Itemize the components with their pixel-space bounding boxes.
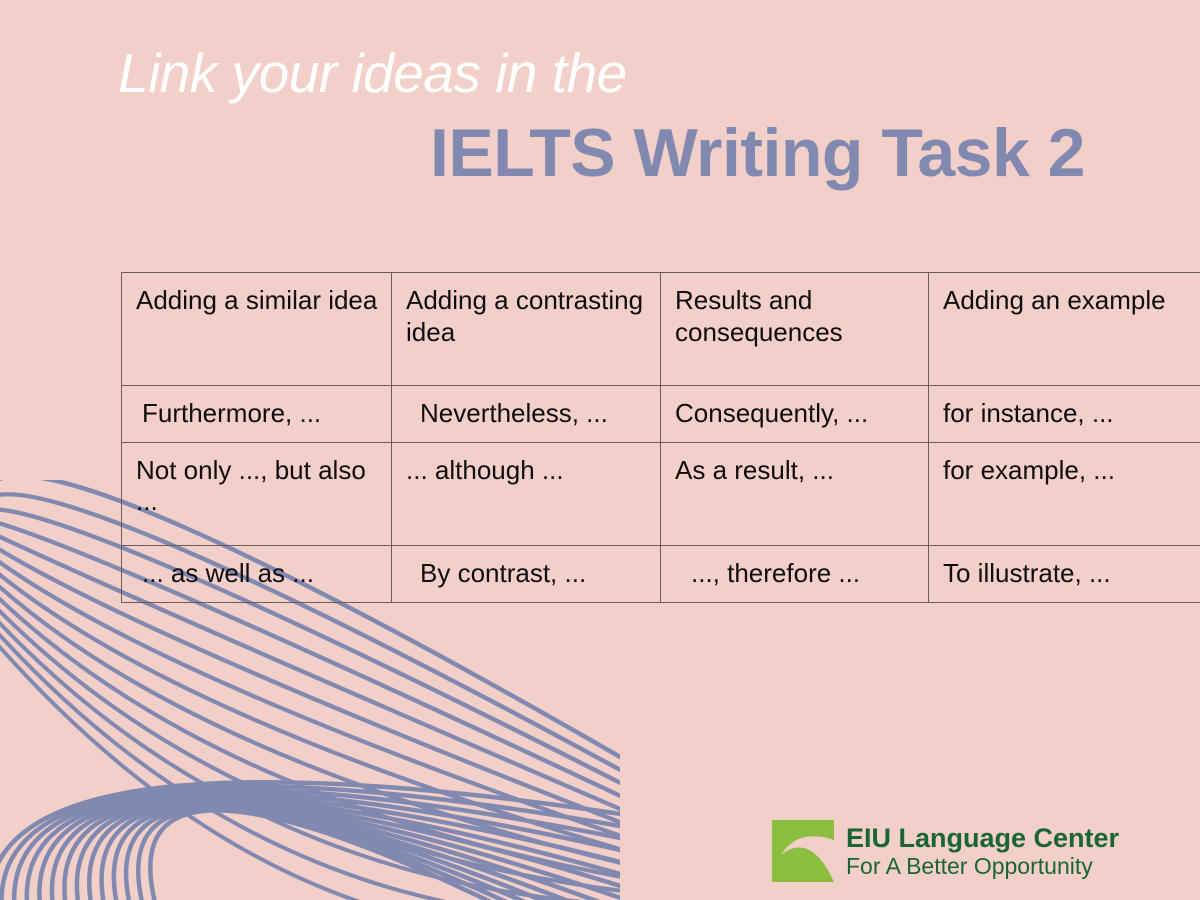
table-row: Furthermore, ... Nevertheless, ... Conse… [122,386,1200,443]
decorative-arc [14,790,620,900]
table-cell: To illustrate, ... [929,545,1200,602]
table-body: Adding a similar idea Adding a contrasti… [122,273,1200,603]
table-cell: for instance, ... [929,386,1200,443]
table-header-cell-adding-a-similar-idea: Adding a similar idea [122,273,392,386]
decorative-arc [52,798,620,900]
table-cell: Nevertheless, ... [392,386,661,443]
decorative-arc [0,601,620,895]
table-row: ... as well as ... By contrast, ... ...,… [122,545,1200,602]
decorative-arc [89,804,620,900]
table-cell: ... although ... [392,442,661,545]
table-cell: ... as well as ... [122,545,392,602]
page-title-line-2: IELTS Writing Task 2 [430,119,1085,187]
decorative-arc [0,782,620,900]
decorative-arc [1,786,620,900]
table-header-row: Adding a similar idea Adding a contrasti… [122,273,1200,386]
decorative-arc [0,567,620,861]
decorative-arc [102,805,620,900]
table-cell: Consequently, ... [661,386,929,443]
table-header-cell-adding-a-contrasting-idea: Adding a contrasting idea [392,273,661,386]
linking-words-table: Adding a similar idea Adding a contrasti… [121,272,1200,603]
table-row: Not only ..., but also ... ... although … [122,442,1200,545]
decorative-arc [0,624,620,900]
table-header-cell-results-and-consequences: Results and consequences [661,273,929,386]
table-cell: Not only ..., but also ... [122,442,392,545]
decorative-arc [39,795,620,900]
table-cell: ..., therefore ... [661,545,929,602]
decorative-arc [0,613,620,900]
decorative-arc [0,590,620,884]
decorative-arc [150,810,620,900]
table-cell: By contrast, ... [392,545,661,602]
logo-text-block: EIU Language Center For A Better Opportu… [846,823,1119,880]
decorative-arc [126,808,620,900]
decorative-arc [138,809,620,900]
logo-tagline: For A Better Opportunity [846,853,1119,879]
decorative-arc [0,578,620,872]
table-header-cell-adding-an-example: Adding an example [929,273,1200,386]
logo-name: EIU Language Center [846,823,1119,853]
eiu-language-center-logo: EIU Language Center For A Better Opportu… [772,820,1119,882]
table-cell: Furthermore, ... [122,386,392,443]
table-cell: As a result, ... [661,442,929,545]
decorative-arc [0,636,620,900]
table-cell: for example, ... [929,442,1200,545]
page-title-line-1: Link your ideas in the [118,46,627,101]
decorative-arc [27,793,620,900]
decorative-arc [77,802,620,900]
decorative-arc [114,807,620,900]
eiu-arch-mark-icon [772,820,834,882]
decorative-arc [64,800,620,900]
